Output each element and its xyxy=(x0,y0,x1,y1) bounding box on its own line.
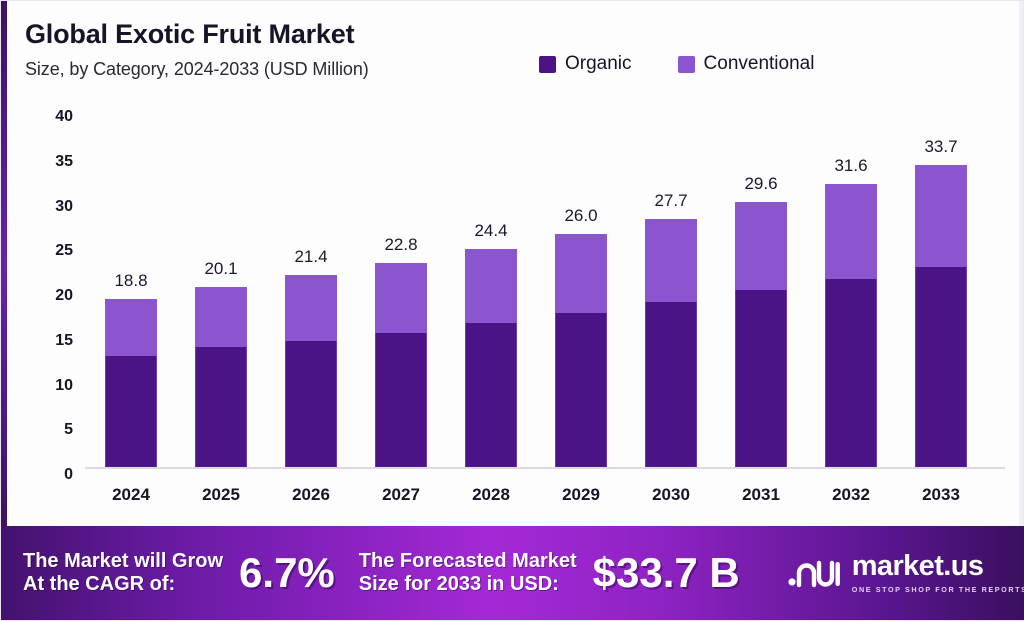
bar-stack[interactable] xyxy=(465,249,517,467)
x-axis-tick-label: 2028 xyxy=(451,485,531,505)
bar-segment-conventional[interactable] xyxy=(285,275,337,340)
bar-segment-organic[interactable] xyxy=(285,341,337,467)
bar-group[interactable]: 33.7 xyxy=(915,165,967,467)
x-axis-tick-label: 2033 xyxy=(901,485,981,505)
bar-segment-conventional[interactable] xyxy=(105,299,157,356)
bar-stack[interactable] xyxy=(555,234,607,467)
bar-segment-conventional[interactable] xyxy=(465,249,517,323)
bar-value-label: 22.8 xyxy=(384,235,417,255)
bar-segment-organic[interactable] xyxy=(645,302,697,467)
bar-value-label: 33.7 xyxy=(924,137,957,157)
bar-segment-conventional[interactable] xyxy=(375,263,427,333)
bar-segment-conventional[interactable] xyxy=(645,219,697,302)
forecast-label-line1: The Forecasted Market xyxy=(359,550,577,573)
bar-stack[interactable] xyxy=(735,202,787,467)
bar-stack[interactable] xyxy=(285,275,337,467)
bar-group[interactable]: 29.6 xyxy=(735,202,787,467)
bar-segment-organic[interactable] xyxy=(555,313,607,467)
bar-segment-organic[interactable] xyxy=(375,333,427,467)
cagr-label-line2: At the CAGR of: xyxy=(23,573,223,596)
x-axis-baseline xyxy=(85,467,1005,469)
brand-tagline: ONE STOP SHOP FOR THE REPORTS xyxy=(852,585,1024,594)
bar-group[interactable]: 24.4 xyxy=(465,249,517,467)
x-axis-labels: 2024202520262027202820292030203120322033 xyxy=(85,485,1005,513)
bar-stack[interactable] xyxy=(645,219,697,467)
x-axis-tick-label: 2029 xyxy=(541,485,621,505)
bar-value-label: 26.0 xyxy=(564,206,597,226)
y-axis-tick: 40 xyxy=(27,108,73,126)
brand-name: market.us xyxy=(852,552,1024,581)
brand-logo[interactable]: market.us ONE STOP SHOP FOR THE REPORTS xyxy=(786,552,1024,594)
cagr-label-line1: The Market will Grow xyxy=(23,550,223,573)
x-axis-tick-label: 2027 xyxy=(361,485,441,505)
y-axis: 0510152025303540 xyxy=(27,109,73,475)
bar-group[interactable]: 21.4 xyxy=(285,275,337,467)
brand-text: market.us ONE STOP SHOP FOR THE REPORTS xyxy=(852,552,1024,594)
bar-value-label: 21.4 xyxy=(294,247,327,267)
bar-segment-conventional[interactable] xyxy=(555,234,607,313)
bar-stack[interactable] xyxy=(195,287,247,467)
x-axis-tick-label: 2032 xyxy=(811,485,891,505)
bar-group[interactable]: 20.1 xyxy=(195,287,247,467)
bar-stack[interactable] xyxy=(375,263,427,467)
bar-series-container: 18.820.121.422.824.426.027.729.631.633.7 xyxy=(85,109,1005,467)
market-us-logo-icon xyxy=(786,556,842,590)
bar-segment-organic[interactable] xyxy=(825,279,877,467)
bar-group[interactable]: 22.8 xyxy=(375,263,427,467)
forecast-label: The Forecasted Market Size for 2033 in U… xyxy=(359,550,577,596)
bar-group[interactable]: 26.0 xyxy=(555,234,607,467)
bar-value-label: 18.8 xyxy=(114,271,147,291)
x-axis-tick-label: 2031 xyxy=(721,485,801,505)
bar-segment-conventional[interactable] xyxy=(825,184,877,279)
cagr-block: The Market will Grow At the CAGR of: 6.7… xyxy=(23,549,335,597)
plot-area: 0510152025303540 18.820.121.422.824.426.… xyxy=(1,1,1024,528)
forecast-block: The Forecasted Market Size for 2033 in U… xyxy=(359,549,740,597)
bar-group[interactable]: 27.7 xyxy=(645,219,697,467)
x-axis-tick-label: 2024 xyxy=(91,485,171,505)
y-axis-tick: 20 xyxy=(27,287,73,305)
bar-segment-organic[interactable] xyxy=(465,323,517,467)
infographic-page: Global Exotic Fruit Market Size, by Cate… xyxy=(0,0,1024,621)
cagr-label: The Market will Grow At the CAGR of: xyxy=(23,550,223,596)
bar-segment-conventional[interactable] xyxy=(735,202,787,290)
forecast-value: $33.7 B xyxy=(593,549,740,597)
bar-value-label: 31.6 xyxy=(834,156,867,176)
bar-value-label: 29.6 xyxy=(744,174,777,194)
bar-value-label: 24.4 xyxy=(474,221,507,241)
y-axis-tick: 0 xyxy=(27,466,73,484)
bar-stack[interactable] xyxy=(825,184,877,467)
forecast-label-line2: Size for 2033 in USD: xyxy=(359,573,577,596)
bar-stack[interactable] xyxy=(105,299,157,467)
y-axis-tick: 30 xyxy=(27,198,73,216)
bar-value-label: 27.7 xyxy=(654,191,687,211)
bar-segment-conventional[interactable] xyxy=(195,287,247,347)
y-axis-tick: 10 xyxy=(27,377,73,395)
bar-segment-conventional[interactable] xyxy=(915,165,967,267)
cagr-value: 6.7% xyxy=(239,549,335,597)
y-axis-tick: 15 xyxy=(27,332,73,350)
bar-group[interactable]: 31.6 xyxy=(825,184,877,467)
footer-banner: The Market will Grow At the CAGR of: 6.7… xyxy=(1,526,1024,620)
x-axis-tick-label: 2026 xyxy=(271,485,351,505)
bar-segment-organic[interactable] xyxy=(105,356,157,467)
y-axis-tick: 5 xyxy=(27,421,73,439)
x-axis-tick-label: 2025 xyxy=(181,485,261,505)
bar-stack[interactable] xyxy=(915,165,967,467)
bar-group[interactable]: 18.8 xyxy=(105,299,157,467)
y-axis-tick: 35 xyxy=(27,153,73,171)
y-axis-tick: 25 xyxy=(27,242,73,260)
bar-segment-organic[interactable] xyxy=(735,290,787,467)
x-axis-tick-label: 2030 xyxy=(631,485,711,505)
bar-segment-organic[interactable] xyxy=(195,347,247,467)
bar-segment-organic[interactable] xyxy=(915,267,967,467)
bar-value-label: 20.1 xyxy=(204,259,237,279)
